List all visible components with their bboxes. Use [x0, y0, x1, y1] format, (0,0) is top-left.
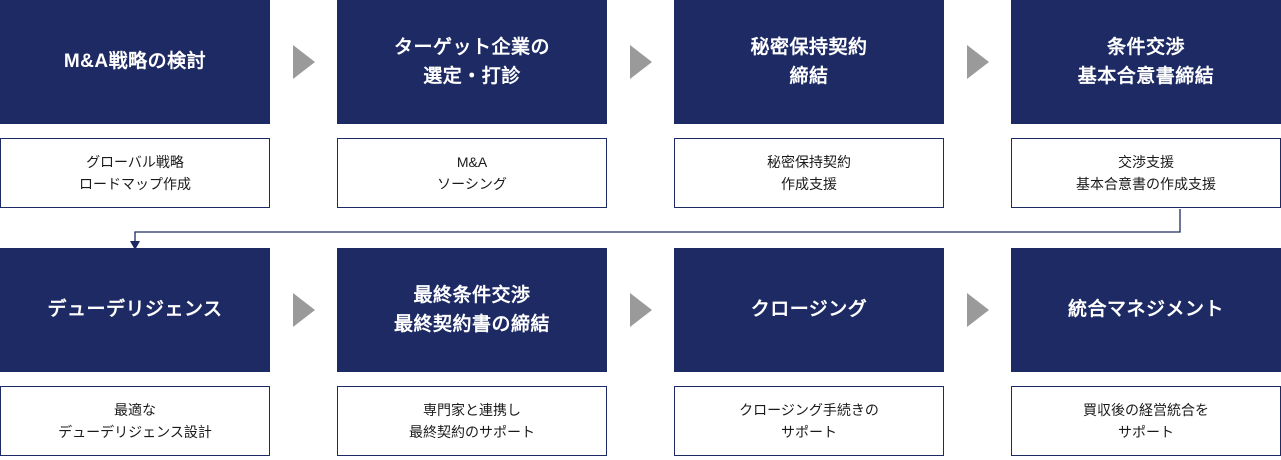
- triangle-right-icon: [967, 293, 989, 327]
- flow-step-7-description-line2: サポート: [781, 421, 837, 443]
- flow-step-7-description-line1: クロージング手続きの: [739, 399, 879, 421]
- flow-step-7-description: クロージング手続きの サポート: [674, 386, 944, 456]
- flow-step-8-header-line1: 統合マネジメント: [1068, 295, 1224, 324]
- process-flow-diagram: M&A戦略の検討 グローバル戦略 ロードマップ作成 ターゲット企業の 選定・打診…: [0, 0, 1281, 460]
- flow-step-5-header-line1: デューデリジェンス: [47, 295, 222, 324]
- flow-step-2-description-line1: M&A: [457, 151, 487, 173]
- flow-step-3-description-line1: 秘密保持契約: [767, 151, 851, 173]
- flow-step-4-description-line2: 基本合意書の作成支援: [1076, 173, 1216, 195]
- flow-step-3-header: 秘密保持契約 締結: [674, 0, 944, 124]
- flow-step-2-header-line2: 選定・打診: [423, 62, 521, 91]
- flow-step-7: クロージング クロージング手続きの サポート: [674, 248, 944, 456]
- flow-step-7-header-line1: クロージング: [751, 295, 868, 324]
- flow-step-8-description-line2: サポート: [1118, 421, 1174, 443]
- triangle-right-icon: [967, 45, 989, 79]
- triangle-right-icon: [293, 293, 315, 327]
- flow-step-5-description: 最適な デューデリジェンス設計: [0, 386, 270, 456]
- flow-step-2-description: M&A ソーシング: [337, 138, 607, 208]
- flow-step-3-header-line2: 締結: [789, 62, 828, 91]
- flow-step-4-description: 交渉支援 基本合意書の作成支援: [1011, 138, 1281, 208]
- triangle-right-icon: [630, 293, 652, 327]
- flow-step-6-header-line2: 最終契約書の締結: [394, 310, 550, 339]
- flow-step-1-description-line1: グローバル戦略: [86, 151, 184, 173]
- flow-arrow-6-7: [607, 248, 674, 372]
- flow-step-4-header-line2: 基本合意書締結: [1078, 62, 1215, 91]
- flow-step-6-header: 最終条件交渉 最終契約書の締結: [337, 248, 607, 372]
- flow-step-4-description-line1: 交渉支援: [1118, 151, 1174, 173]
- flow-arrow-5-6: [270, 248, 337, 372]
- flow-step-8-description-line1: 買収後の経営統合を: [1083, 399, 1209, 421]
- flow-step-5-header: デューデリジェンス: [0, 248, 270, 372]
- triangle-right-icon: [293, 45, 315, 79]
- flow-step-4-header-line1: 条件交渉: [1107, 33, 1185, 62]
- flow-step-6-description-line2: 最終契約のサポート: [409, 421, 535, 443]
- flow-step-6-description-line1: 専門家と連携し: [423, 399, 521, 421]
- flow-step-3-header-line1: 秘密保持契約: [750, 33, 867, 62]
- flow-step-1: M&A戦略の検討 グローバル戦略 ロードマップ作成: [0, 0, 270, 208]
- flow-step-3-description-line2: 作成支援: [781, 173, 837, 195]
- flow-step-1-description-line2: ロードマップ作成: [79, 173, 191, 195]
- flow-step-2-description-line2: ソーシング: [437, 173, 507, 195]
- flow-step-6-header-line1: 最終条件交渉: [413, 281, 530, 310]
- flow-step-8: 統合マネジメント 買収後の経営統合を サポート: [1011, 248, 1281, 456]
- flow-step-2: ターゲット企業の 選定・打診 M&A ソーシング: [337, 0, 607, 208]
- flow-step-3-description: 秘密保持契約 作成支援: [674, 138, 944, 208]
- flow-step-5: デューデリジェンス 最適な デューデリジェンス設計: [0, 248, 270, 456]
- flow-step-6: 最終条件交渉 最終契約書の締結 専門家と連携し 最終契約のサポート: [337, 248, 607, 456]
- flow-step-5-description-line2: デューデリジェンス設計: [58, 421, 212, 443]
- flow-row-1: M&A戦略の検討 グローバル戦略 ロードマップ作成 ターゲット企業の 選定・打診…: [0, 0, 1281, 208]
- flow-step-2-header-line1: ターゲット企業の: [394, 33, 550, 62]
- flow-step-7-header: クロージング: [674, 248, 944, 372]
- flow-step-8-header: 統合マネジメント: [1011, 248, 1281, 372]
- flow-row-2: デューデリジェンス 最適な デューデリジェンス設計 最終条件交渉 最終契約書の締…: [0, 248, 1281, 456]
- flow-step-2-header: ターゲット企業の 選定・打診: [337, 0, 607, 124]
- flow-step-8-description: 買収後の経営統合を サポート: [1011, 386, 1281, 456]
- flow-step-1-header: M&A戦略の検討: [0, 0, 270, 124]
- flow-step-1-description: グローバル戦略 ロードマップ作成: [0, 138, 270, 208]
- flow-step-4-header: 条件交渉 基本合意書締結: [1011, 0, 1281, 124]
- flow-arrow-3-4: [944, 0, 1011, 124]
- triangle-right-icon: [630, 45, 652, 79]
- flow-arrow-1-2: [270, 0, 337, 124]
- flow-step-4: 条件交渉 基本合意書締結 交渉支援 基本合意書の作成支援: [1011, 0, 1281, 208]
- flow-step-6-description: 専門家と連携し 最終契約のサポート: [337, 386, 607, 456]
- flow-step-3: 秘密保持契約 締結 秘密保持契約 作成支援: [674, 0, 944, 208]
- flow-arrow-2-3: [607, 0, 674, 124]
- flow-arrow-7-8: [944, 248, 1011, 372]
- flow-step-5-description-line1: 最適な: [114, 399, 156, 421]
- flow-step-1-header-line1: M&A戦略の検討: [64, 47, 206, 76]
